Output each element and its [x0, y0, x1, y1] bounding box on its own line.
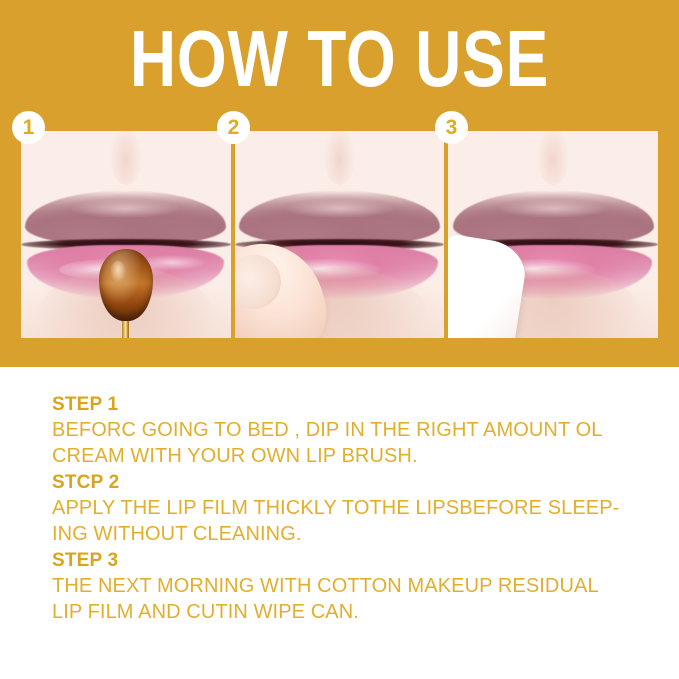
step-body-2: APPLY THE LIP FILM THICKLY TOTHE LIPSBEF…	[52, 495, 633, 547]
step-badge-3: 3	[435, 111, 468, 144]
step-block-2: STCP 2 APPLY THE LIP FILM THICKLY TOTHE …	[52, 470, 633, 547]
step-badge-2: 2	[217, 111, 250, 144]
applicator-wand-tip-icon	[99, 249, 153, 321]
step-image-3	[448, 131, 658, 338]
step-body-1: BEFORC GOING TO BED , DIP IN THE RIGHT A…	[52, 417, 633, 469]
step-block-1: STEP 1 BEFORC GOING TO BED , DIP IN THE …	[52, 392, 633, 469]
upper-lip-sheen-1	[71, 199, 180, 218]
how-to-use-poster: HOW TO USE	[0, 0, 679, 679]
step-block-3: STEP 3 THE NEXT MORNING WITH COTTON MAKE…	[52, 548, 633, 625]
step-heading-1: STEP 1	[52, 392, 633, 417]
upper-lip-sheen-3	[499, 199, 608, 218]
instruction-image-strip	[21, 131, 658, 338]
step-image-1	[21, 131, 231, 338]
philtrum-shadow-1	[109, 131, 143, 185]
step-body-3: THE NEXT MORNING WITH COTTON MAKEUP RESI…	[52, 573, 633, 625]
step-heading-2: STCP 2	[52, 470, 633, 495]
step-image-2	[235, 131, 445, 338]
step-badge-1: 1	[12, 111, 45, 144]
upper-lip-sheen-2	[285, 199, 394, 218]
steps-section: STEP 1 BEFORC GOING TO BED , DIP IN THE …	[0, 367, 679, 679]
page-title: HOW TO USE	[68, 22, 611, 96]
step-heading-3: STEP 3	[52, 548, 633, 573]
